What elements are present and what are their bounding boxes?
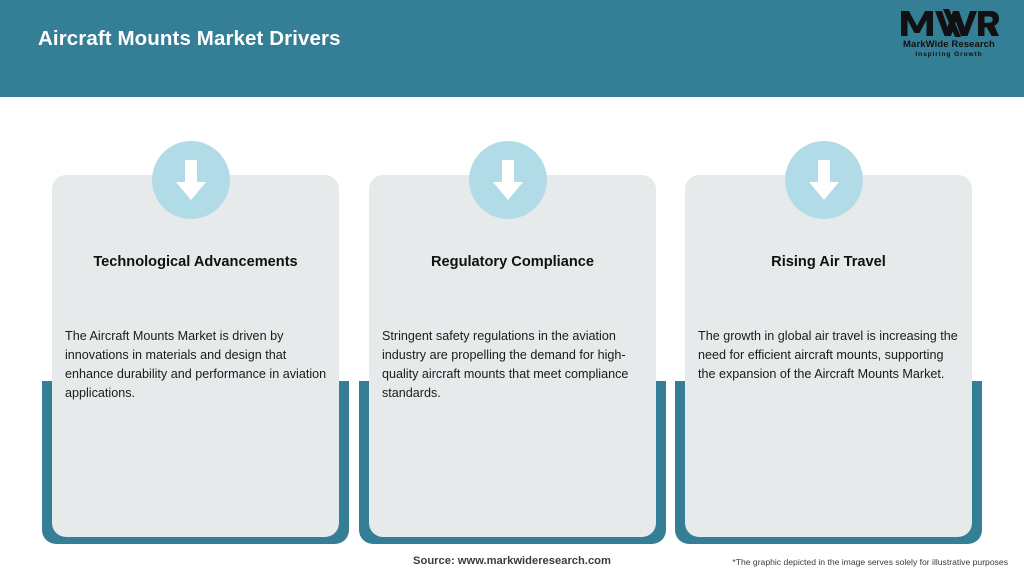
card-panel: Technological Advancements The Aircraft … — [52, 175, 339, 537]
arrow-down-icon — [469, 141, 547, 219]
infographic-page: Aircraft Mounts Market Drivers MarkWide … — [0, 0, 1024, 576]
driver-cards-container: Technological Advancements The Aircraft … — [0, 0, 1024, 576]
arrow-down-icon — [152, 141, 230, 219]
card-title: Technological Advancements — [62, 253, 329, 271]
card-panel: Regulatory Compliance Stringent safety r… — [369, 175, 656, 537]
card-description: The Aircraft Mounts Market is driven by … — [65, 327, 327, 404]
arrow-down-icon — [785, 141, 863, 219]
disclaimer-label: *The graphic depicted in the image serve… — [732, 557, 1008, 567]
card-title: Regulatory Compliance — [379, 253, 646, 271]
card-panel: Rising Air Travel The growth in global a… — [685, 175, 972, 537]
card-description: Stringent safety regulations in the avia… — [382, 327, 644, 404]
card-description: The growth in global air travel is incre… — [698, 327, 960, 384]
card-title: Rising Air Travel — [695, 253, 962, 271]
